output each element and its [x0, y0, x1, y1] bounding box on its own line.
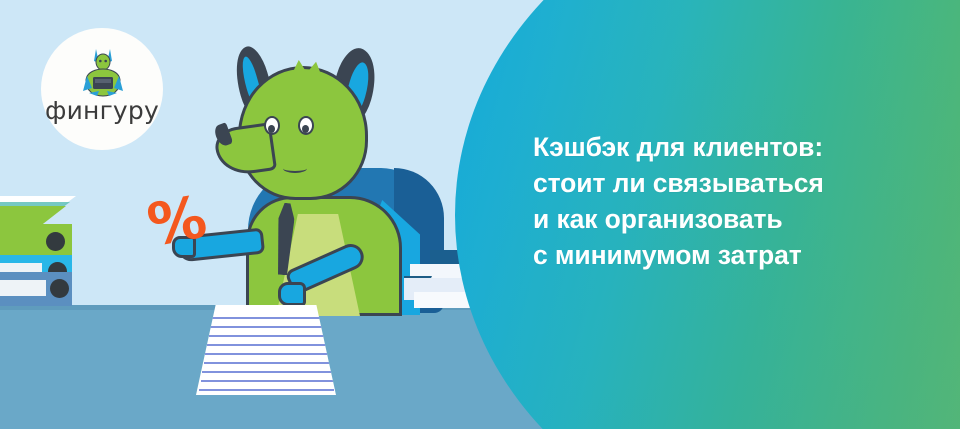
promo-banner: % Кэшбэк для клиентов: стоит ли связыват… — [0, 0, 960, 429]
kangaroo-accountant-icon — [82, 47, 124, 99]
headline-line-2: стоит ли связываться — [533, 165, 933, 201]
percent-symbol: % — [143, 187, 210, 254]
headline-line-3: и как организовать — [533, 201, 933, 237]
mascot-hand-right — [278, 282, 306, 306]
binder-blue-ring — [50, 279, 69, 298]
mascot-pupil-right — [302, 125, 309, 133]
binder-blue-label — [0, 280, 46, 296]
desk-document — [196, 305, 336, 395]
mascot-mouth — [283, 164, 307, 173]
logo-wordmark: фингуру — [41, 96, 163, 125]
open-folder-green — [0, 196, 96, 236]
headline-line-4: с минимумом затрат — [533, 237, 933, 273]
headline: Кэшбэк для клиентов: стоит ли связыватьс… — [533, 129, 933, 273]
mascot-pupil-left — [268, 125, 275, 133]
headline-line-1: Кэшбэк для клиентов: — [533, 129, 933, 165]
